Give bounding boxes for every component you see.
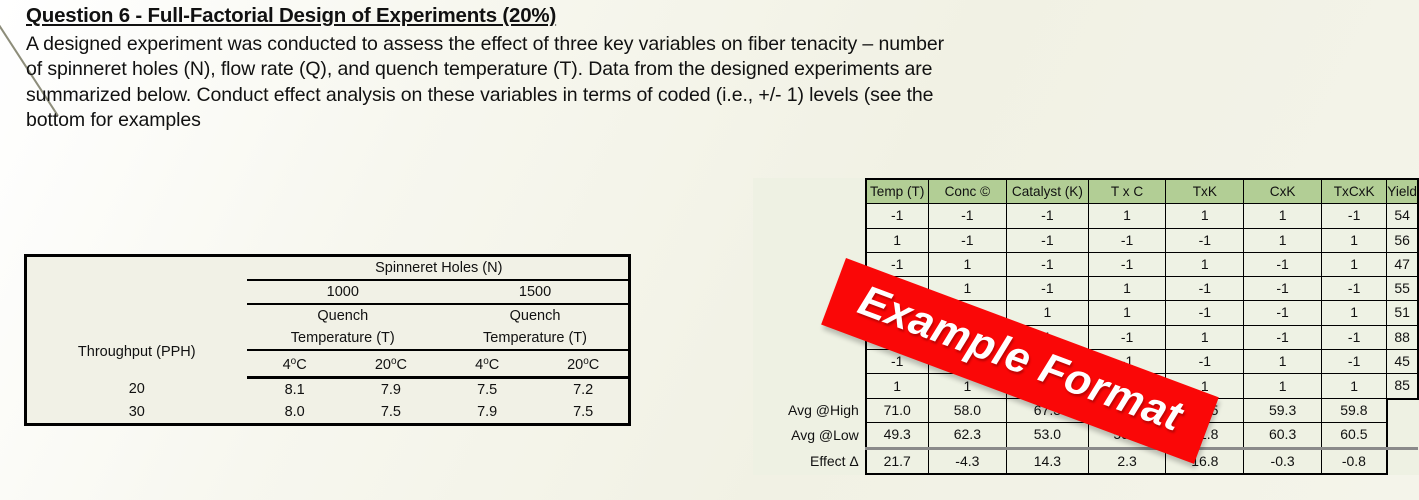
- left-blank-cell: [26, 280, 247, 304]
- doe-cell-r4-c6: 1: [1322, 301, 1387, 325]
- temperature-label-left: Temperature (T): [247, 327, 440, 350]
- doe-cell-r3-c1: 1: [928, 277, 1007, 301]
- doe-summary-r1-c1: 62.3: [928, 423, 1007, 448]
- doe-cell-r7-c7: 85: [1387, 374, 1418, 399]
- quench-label-right: Quench: [439, 304, 631, 327]
- table-row: 1000 1500: [26, 280, 632, 304]
- doe-cell-r5-c3: -1: [1088, 325, 1166, 349]
- doe-cell-r4-c0: -1: [866, 301, 928, 325]
- question-title: Question 6 - Full-Factorial Design of Ex…: [26, 4, 956, 28]
- doe-cell-r0-c4: 1: [1166, 204, 1244, 228]
- doe-cell-r4-c1: -1: [928, 301, 1007, 325]
- doe-summary-r1-c2: 53.0: [1007, 423, 1089, 448]
- doe-cell-r4-c3: 1: [1088, 301, 1166, 325]
- table-row: -1-1-1111-154: [753, 204, 1418, 228]
- doe-cell-r0-c0: -1: [866, 204, 928, 228]
- doe-cell-r4-c2: 1: [1007, 301, 1089, 325]
- doe-cell-r1-c5: 1: [1244, 228, 1322, 252]
- doe-summary-r0-c5: 59.3: [1244, 399, 1322, 423]
- doe-cell-r7-c4: 1: [1166, 374, 1244, 399]
- doe-column-header-7: Yield: [1387, 179, 1418, 204]
- doe-cell-r6-c0: -1: [866, 350, 928, 374]
- doe-summary-row: Effect Δ21.7-4.314.32.316.8-0.3-0.8: [753, 448, 1418, 474]
- table-row: -1-111-1-1151: [753, 301, 1418, 325]
- doe-summary-label-1: Avg @Low: [753, 423, 866, 448]
- doe-cell-r2-c6: 1: [1322, 252, 1387, 276]
- table-row: -111-1-11-145: [753, 350, 1418, 374]
- cell-30-c3: 7.9: [439, 401, 535, 425]
- doe-summary-blank: [1387, 399, 1418, 423]
- doe-cell-r1-c7: 56: [1387, 228, 1418, 252]
- cell-20-c2: 7.9: [343, 378, 439, 402]
- cell-20-c4: 7.2: [535, 378, 631, 402]
- cell-20-c1: 8.1: [247, 378, 343, 402]
- doe-cell-r6-c6: -1: [1322, 350, 1387, 374]
- table-row: 11-11-1-1-155: [753, 277, 1418, 301]
- question-body: A designed experiment was conducted to a…: [26, 32, 956, 134]
- doe-cell-r2-c4: 1: [1166, 252, 1244, 276]
- left-blank-cell: [26, 304, 247, 327]
- cell-30-c2: 7.5: [343, 401, 439, 425]
- doe-cell-r2-c7: 47: [1387, 252, 1418, 276]
- doe-summary-row: Avg @Low49.362.353.059.051.860.360.5: [753, 423, 1418, 448]
- level-header-1500: 1500: [439, 280, 631, 304]
- doe-cell-r1-c2: -1: [1007, 228, 1089, 252]
- doe-cell-r7-c1: 1: [928, 374, 1007, 399]
- doe-cell-r1-c1: -1: [928, 228, 1007, 252]
- row-label-20: 20: [26, 378, 247, 402]
- doe-summary-r0-c1: 58.0: [928, 399, 1007, 423]
- row-header-throughput: Throughput (PPH): [26, 327, 247, 378]
- doe-cell-r1-c6: 1: [1322, 228, 1387, 252]
- doe-summary-r1-c6: 60.5: [1322, 423, 1387, 448]
- doe-summary-r1-c4: 51.8: [1166, 423, 1244, 448]
- doe-summary-blank: [1387, 448, 1418, 474]
- doe-summary-r1-c3: 59.0: [1088, 423, 1166, 448]
- row-label-gutter: [753, 179, 866, 204]
- spinneret-summary-table: Spinneret Holes (N) 1000 1500 Quench Que…: [24, 254, 631, 426]
- row-label-gutter: [753, 374, 866, 399]
- doe-cell-r3-c5: -1: [1244, 277, 1322, 301]
- doe-cell-r5-c7: 88: [1387, 325, 1418, 349]
- row-label-gutter: [753, 228, 866, 252]
- cell-30-c4: 7.5: [535, 401, 631, 425]
- doe-cell-r3-c4: -1: [1166, 277, 1244, 301]
- doe-summary-r2-c1: -4.3: [928, 448, 1007, 474]
- doe-summary-label-0: Avg @High: [753, 399, 866, 423]
- row-label-gutter: [753, 325, 866, 349]
- doe-cell-r1-c0: 1: [866, 228, 928, 252]
- table-row: Throughput (PPH) Temperature (T) Tempera…: [26, 327, 632, 350]
- row-label-gutter: [753, 350, 866, 374]
- doe-cell-r7-c2: 1: [1007, 374, 1089, 399]
- table-row: 30 8.0 7.5 7.9 7.5: [26, 401, 632, 425]
- doe-cell-r6-c1: 1: [928, 350, 1007, 374]
- doe-cell-r7-c3: 1: [1088, 374, 1166, 399]
- doe-cell-r3-c2: -1: [1007, 277, 1089, 301]
- row-label-gutter: [753, 252, 866, 276]
- doe-summary-r2-c6: -0.8: [1322, 448, 1387, 474]
- spinneret-summary-table-wrapper: Spinneret Holes (N) 1000 1500 Quench Que…: [24, 254, 631, 426]
- doe-summary-r2-c5: -0.3: [1244, 448, 1322, 474]
- doe-cell-r1-c3: -1: [1088, 228, 1166, 252]
- doe-cell-r3-c3: 1: [1088, 277, 1166, 301]
- doe-cell-r5-c6: -1: [1322, 325, 1387, 349]
- doe-cell-r2-c1: 1: [928, 252, 1007, 276]
- doe-cell-r0-c2: -1: [1007, 204, 1089, 228]
- doe-cell-r2-c5: -1: [1244, 252, 1322, 276]
- doe-cell-r2-c3: -1: [1088, 252, 1166, 276]
- doe-summary-r2-c3: 2.3: [1088, 448, 1166, 474]
- doe-cell-r6-c4: -1: [1166, 350, 1244, 374]
- table-row: 1-11-11-1-188: [753, 325, 1418, 349]
- table-row: 20 8.1 7.9 7.5 7.2: [26, 378, 632, 402]
- doe-cell-r3-c7: 55: [1387, 277, 1418, 301]
- doe-cell-r2-c2: -1: [1007, 252, 1089, 276]
- doe-cell-r5-c4: 1: [1166, 325, 1244, 349]
- doe-column-header-3: T x C: [1088, 179, 1166, 204]
- table-row: 1-1-1-1-11156: [753, 228, 1418, 252]
- temperature-label-right: Temperature (T): [439, 327, 631, 350]
- doe-column-header-1: Conc ©: [928, 179, 1007, 204]
- doe-column-header-0: Temp (T): [866, 179, 928, 204]
- doe-cell-r5-c0: 1: [866, 325, 928, 349]
- doe-cell-r3-c0: 1: [866, 277, 928, 301]
- doe-cell-r5-c1: -1: [928, 325, 1007, 349]
- doe-cell-r4-c4: -1: [1166, 301, 1244, 325]
- doe-summary-r0-c0: 71.0: [866, 399, 928, 423]
- doe-cell-r1-c4: -1: [1166, 228, 1244, 252]
- doe-cell-r0-c3: 1: [1088, 204, 1166, 228]
- doe-cell-r3-c6: -1: [1322, 277, 1387, 301]
- doe-cell-r5-c5: -1: [1244, 325, 1322, 349]
- doe-header-row: Temp (T)Conc ©Catalyst (K)T x CTxKCxKTxC…: [753, 179, 1418, 204]
- question-text-block: Question 6 - Full-Factorial Design of Ex…: [26, 4, 956, 134]
- doe-summary-blank: [1387, 423, 1418, 448]
- table-row: -11-1-11-1147: [753, 252, 1418, 276]
- doe-column-header-5: CxK: [1244, 179, 1322, 204]
- doe-cell-r0-c1: -1: [928, 204, 1007, 228]
- doe-summary-r0-c3: 61.3: [1088, 399, 1166, 423]
- doe-summary-r0-c2: 67.3: [1007, 399, 1089, 423]
- temp-col-2: 20oC: [343, 350, 439, 378]
- doe-design-matrix-table: Temp (T)Conc ©Catalyst (K)T x CTxKCxKTxC…: [753, 178, 1419, 475]
- doe-table-wrapper: Temp (T)Conc ©Catalyst (K)T x CTxKCxKTxC…: [753, 178, 1419, 475]
- temp-col-1: 4oC: [247, 350, 343, 378]
- doe-cell-r7-c6: 1: [1322, 374, 1387, 399]
- table-row: 111111185: [753, 374, 1418, 399]
- table-row: Quench Quench: [26, 304, 632, 327]
- doe-column-header-6: TxCxK: [1322, 179, 1387, 204]
- doe-summary-r0-c6: 59.8: [1322, 399, 1387, 423]
- doe-cell-r6-c5: 1: [1244, 350, 1322, 374]
- row-label-gutter: [753, 301, 866, 325]
- doe-cell-r6-c3: -1: [1088, 350, 1166, 374]
- doe-cell-r0-c5: 1: [1244, 204, 1322, 228]
- doe-cell-r2-c0: -1: [866, 252, 928, 276]
- doe-summary-label-2: Effect Δ: [753, 448, 866, 474]
- doe-summary-r2-c0: 21.7: [866, 448, 928, 474]
- doe-summary-r1-c5: 60.3: [1244, 423, 1322, 448]
- doe-cell-r7-c0: 1: [866, 374, 928, 399]
- group-header-spinneret: Spinneret Holes (N): [247, 256, 631, 281]
- row-label-gutter: [753, 204, 866, 228]
- doe-cell-r5-c2: 1: [1007, 325, 1089, 349]
- temp-col-3: 4oC: [439, 350, 535, 378]
- temp-col-4: 20oC: [535, 350, 631, 378]
- doe-column-header-2: Catalyst (K): [1007, 179, 1089, 204]
- table-row: Spinneret Holes (N): [26, 256, 632, 281]
- doe-summary-r2-c2: 14.3: [1007, 448, 1089, 474]
- doe-cell-r6-c2: 1: [1007, 350, 1089, 374]
- row-label-gutter: [753, 277, 866, 301]
- doe-summary-r0-c4: 68.5: [1166, 399, 1244, 423]
- left-blank-cell: [26, 256, 247, 281]
- quench-label-left: Quench: [247, 304, 440, 327]
- doe-summary-row: Avg @High71.058.067.361.368.559.359.8: [753, 399, 1418, 423]
- doe-cell-r4-c5: -1: [1244, 301, 1322, 325]
- doe-cell-r4-c7: 51: [1387, 301, 1418, 325]
- cell-30-c1: 8.0: [247, 401, 343, 425]
- level-header-1000: 1000: [247, 280, 440, 304]
- doe-cell-r0-c6: -1: [1322, 204, 1387, 228]
- cell-20-c3: 7.5: [439, 378, 535, 402]
- doe-cell-r0-c7: 54: [1387, 204, 1418, 228]
- row-label-30: 30: [26, 401, 247, 425]
- doe-summary-r2-c4: 16.8: [1166, 448, 1244, 474]
- doe-cell-r6-c7: 45: [1387, 350, 1418, 374]
- doe-column-header-4: TxK: [1166, 179, 1244, 204]
- doe-cell-r7-c5: 1: [1244, 374, 1322, 399]
- doe-summary-r1-c0: 49.3: [866, 423, 928, 448]
